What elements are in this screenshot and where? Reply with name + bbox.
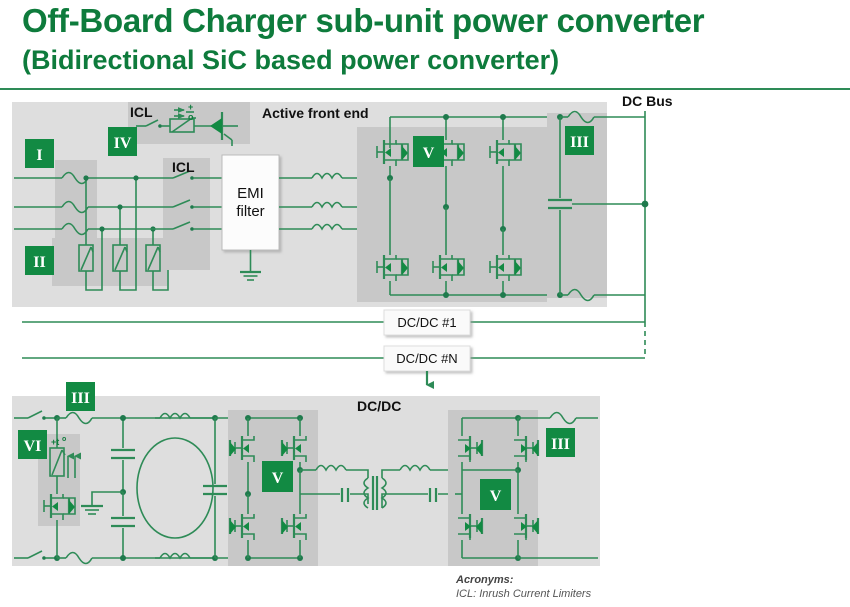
emi-filter-label-1: EMI xyxy=(237,185,264,202)
badge-III-bottom-left-label: III xyxy=(71,390,90,407)
badge-II: II xyxy=(25,246,54,275)
icl-callout-label: ICL xyxy=(130,104,153,120)
dcdc-n-label-box: DC/DC #N xyxy=(384,346,470,385)
badge-III-bottom-left: III xyxy=(66,382,95,411)
badge-IV: IV xyxy=(108,127,137,156)
badge-III-bottom-right: III xyxy=(546,428,575,457)
badge-V-top-label: V xyxy=(423,145,435,162)
badge-V-primary: V xyxy=(262,461,293,492)
badge-IV-label: IV xyxy=(114,135,132,152)
badge-II-label: II xyxy=(33,254,45,271)
badge-I: I xyxy=(25,139,54,168)
sic-bridge-block xyxy=(357,114,560,302)
badge-V-top: V xyxy=(413,136,444,167)
badge-VI: VI xyxy=(18,430,47,459)
dcdc-section-label: DC/DC xyxy=(357,398,401,414)
icl-plus-mark: + xyxy=(188,102,193,112)
acronym-entry-icl: ICL: Inrush Current Limiters xyxy=(456,588,592,600)
badge-III-top-label: III xyxy=(570,134,589,151)
badge-III-bottom-right-label: III xyxy=(551,436,570,453)
icl-minus-mark: o xyxy=(188,112,194,122)
dcdc-1-label: DC/DC #1 xyxy=(397,315,456,330)
dc-bus-line xyxy=(642,111,649,358)
emi-filter-label-2: filter xyxy=(236,203,264,220)
badge-III-top: III xyxy=(565,126,594,155)
dcdc-n-label: DC/DC #N xyxy=(396,351,457,366)
badge-VI-label: VI xyxy=(24,438,42,455)
thermistor-superscript: o xyxy=(62,436,66,443)
active-front-end-label: Active front end xyxy=(262,105,369,121)
power-converter-diagram: + o ICL IV xyxy=(0,0,850,607)
dc-link-block xyxy=(547,112,645,301)
dcdc-1-label-box: DC/DC #1 xyxy=(384,310,470,335)
badge-V-secondary-label: V xyxy=(490,488,502,505)
dc-bus-label: DC Bus xyxy=(622,93,673,109)
icl-inline-label: ICL xyxy=(172,159,195,175)
thermistor-mark: +t xyxy=(51,437,59,447)
acronyms-heading: Acronyms: xyxy=(455,574,514,586)
dcdc-interconnect xyxy=(22,322,645,358)
badge-V-secondary: V xyxy=(480,479,511,510)
badge-V-primary-label: V xyxy=(272,470,284,487)
badge-I-label: I xyxy=(36,147,42,164)
